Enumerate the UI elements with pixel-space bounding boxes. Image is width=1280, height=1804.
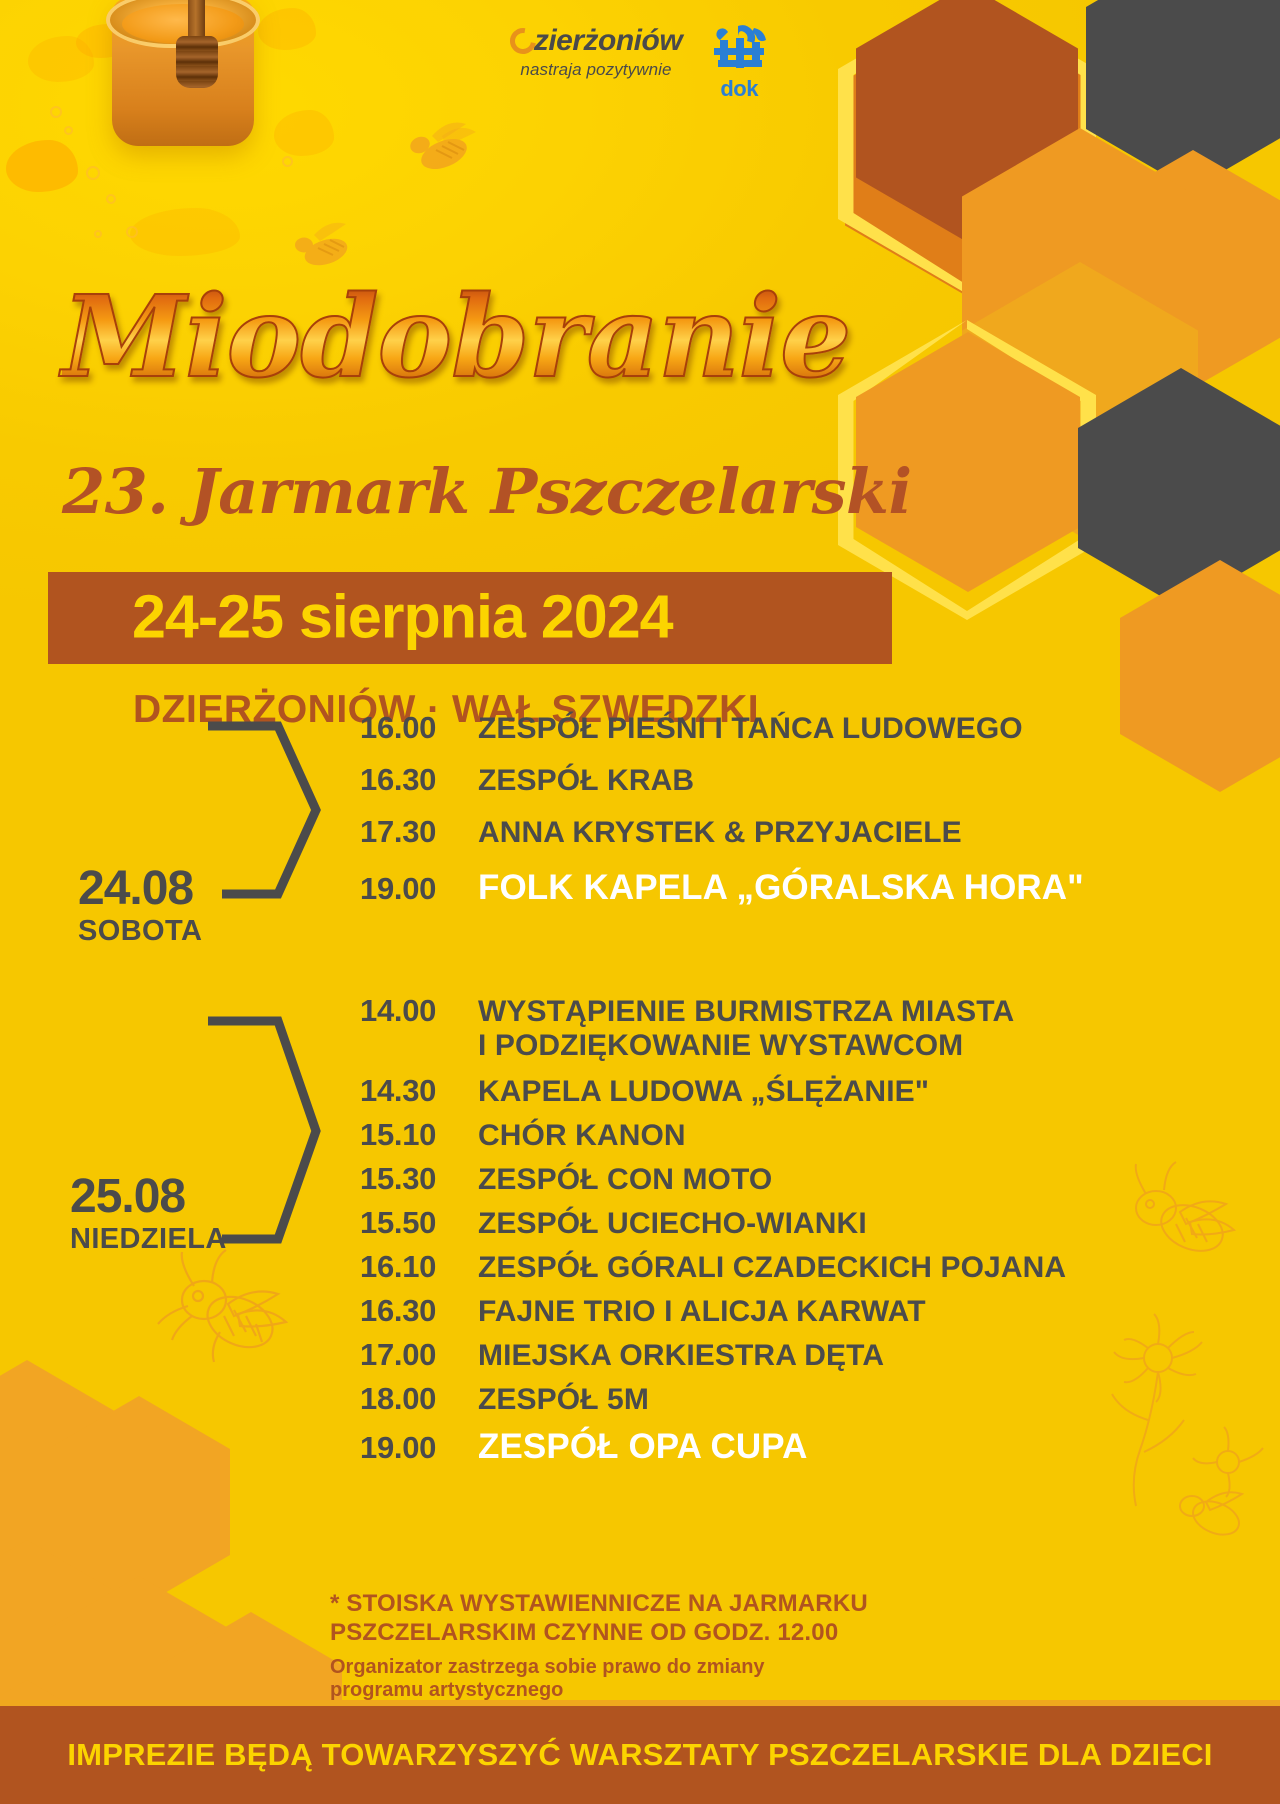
schedule-row: 14.00 WYSTĄPIENIE BURMISTRZA MIASTA: [360, 993, 1066, 1029]
footnote: * STOISKA WYSTAWIENNICZE NA JARMARKU PSZ…: [330, 1590, 930, 1703]
dok-logo[interactable]: dok: [708, 24, 770, 100]
schedule-rows-sunday: 14.00 WYSTĄPIENIE BURMISTRZA MIASTA I PO…: [360, 993, 1066, 1467]
row-act: ZESPÓŁ KRAB: [478, 764, 694, 798]
event-date: 24-25 sierpnia 2024: [132, 582, 673, 652]
row-time: 19.00: [360, 1430, 478, 1466]
footnote-line1: * STOISKA WYSTAWIENNICZE NA JARMARKU: [330, 1590, 930, 1619]
row-act: CHÓR KANON: [478, 1119, 686, 1153]
day-number: 25.08: [70, 1173, 227, 1221]
footnote-line3: Organizator zastrzega sobie prawo do zmi…: [330, 1656, 930, 1680]
bracket-chevron-saturday: [206, 710, 326, 910]
row-time: 17.00: [360, 1337, 478, 1373]
schedule-row: 16.10 ZESPÓŁ GÓRALI CZADECKICH POJANA: [360, 1249, 1066, 1285]
schedule-row: 17.00 MIEJSKA ORKIESTRA DĘTA: [360, 1337, 1066, 1373]
row-act: FOLK KAPELA „GÓRALSKA HORA": [478, 868, 1084, 908]
row-act-line2: I PODZIĘKOWANIE WYSTAWCOM: [478, 1029, 1066, 1063]
bracket-chevron-sunday: [206, 1005, 326, 1255]
row-act: MIEJSKA ORKIESTRA DĘTA: [478, 1339, 884, 1373]
row-act: FAJNE TRIO I ALICJA KARWAT: [478, 1295, 926, 1329]
schedule-row: 14.30 KAPELA LUDOWA „ŚLĘŻANIE": [360, 1073, 1066, 1109]
row-act: ZESPÓŁ PIEŚNI I TAŃCA LUDOWEGO: [478, 712, 1023, 746]
schedule-row: 15.30 ZESPÓŁ CON MOTO: [360, 1161, 1066, 1197]
footnote-line2: PSZCZELARSKIM CZYNNE OD GODZ. 12.00: [330, 1619, 930, 1648]
row-act: ZESPÓŁ 5M: [478, 1383, 649, 1417]
row-act: ANNA KRYSTEK & PRZYJACIELE: [478, 816, 962, 850]
dok-emblem-icon: [708, 24, 770, 80]
day-label-sunday: 25.08 NIEDZIELA: [70, 1173, 227, 1257]
dok-logo-label: dok: [708, 76, 770, 102]
row-time: 19.00: [360, 871, 478, 907]
row-act: ZESPÓŁ UCIECHO-WIANKI: [478, 1207, 867, 1241]
row-act: ZESPÓŁ CON MOTO: [478, 1163, 772, 1197]
day-name: SOBOTA: [78, 913, 202, 949]
row-time: 16.00: [360, 710, 478, 746]
schedule-row-highlight: 19.00 ZESPÓŁ OPA CUPA: [360, 1427, 1066, 1467]
row-act: ZESPÓŁ GÓRALI CZADECKICH POJANA: [478, 1251, 1066, 1285]
day-number: 24.08: [78, 865, 202, 913]
bee-silhouette-top-a: [398, 118, 484, 182]
city-logo-dzierzoniow[interactable]: zierżoniów nastraja pozytywnie: [510, 24, 682, 80]
schedule-rows-saturday: 16.00 ZESPÓŁ PIEŚNI I TAŃCA LUDOWEGO 16.…: [360, 710, 1084, 908]
row-act: ZESPÓŁ OPA CUPA: [478, 1427, 808, 1467]
schedule-row: 16.00 ZESPÓŁ PIEŚNI I TAŃCA LUDOWEGO: [360, 710, 1084, 746]
row-time: 16.30: [360, 762, 478, 798]
city-logo-name: zierżoniów: [534, 24, 682, 58]
schedule-row: 18.00 ZESPÓŁ 5M: [360, 1381, 1066, 1417]
schedule-row: 17.30 ANNA KRYSTEK & PRZYJACIELE: [360, 814, 1084, 850]
schedule-row: 16.30 ZESPÓŁ KRAB: [360, 762, 1084, 798]
schedule-row: 15.10 CHÓR KANON: [360, 1117, 1066, 1153]
row-time: 18.00: [360, 1381, 478, 1417]
bottom-banner: IMPREZIE BĘDĄ TOWARZYSZYĆ WARSZTATY PSZC…: [0, 1706, 1280, 1804]
row-time: 15.10: [360, 1117, 478, 1153]
page-title: Miodobranie: [62, 282, 850, 394]
row-time: 15.50: [360, 1205, 478, 1241]
city-logo-slogan: nastraja pozytywnie: [510, 60, 682, 80]
schedule-row: 16.30 FAJNE TRIO I ALICJA KARWAT: [360, 1293, 1066, 1329]
day-label-saturday: 24.08 SOBOTA: [78, 865, 202, 949]
row-time: 16.10: [360, 1249, 478, 1285]
row-act: WYSTĄPIENIE BURMISTRZA MIASTA: [478, 995, 1014, 1029]
schedule-day-sunday: 25.08 NIEDZIELA 14.00 WYSTĄPIENIE BURMIS…: [0, 945, 1280, 1565]
row-time: 17.30: [360, 814, 478, 850]
row-time: 16.30: [360, 1293, 478, 1329]
poster-canvas: zierżoniów nastraja pozytywnie dok M: [0, 0, 1280, 1804]
date-banner: 24-25 sierpnia 2024: [48, 572, 892, 664]
bee-silhouette-top-b: [282, 218, 362, 278]
row-act: KAPELA LUDOWA „ŚLĘŻANIE": [478, 1075, 929, 1109]
bottom-banner-text: IMPREZIE BĘDĄ TOWARZYSZYĆ WARSZTATY PSZC…: [67, 1737, 1212, 1773]
row-time: 14.30: [360, 1073, 478, 1109]
row-time: 15.30: [360, 1161, 478, 1197]
day-name: NIEDZIELA: [70, 1221, 227, 1257]
row-time: 14.00: [360, 993, 478, 1029]
schedule-row: 15.50 ZESPÓŁ UCIECHO-WIANKI: [360, 1205, 1066, 1241]
page-subtitle: 23. Jarmark Pszczelarski: [62, 455, 912, 528]
header-logos: zierżoniów nastraja pozytywnie dok: [0, 24, 1280, 100]
schedule-row-highlight: 19.00 FOLK KAPELA „GÓRALSKA HORA": [360, 868, 1084, 908]
